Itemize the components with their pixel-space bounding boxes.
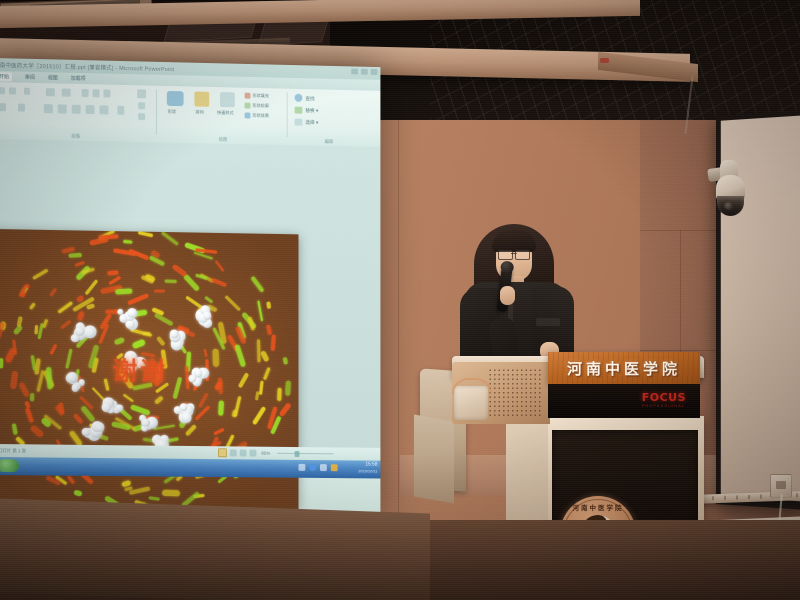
capsid-ribbon [99, 235, 119, 240]
podium-side-arc [452, 378, 492, 394]
ligand-sphere [127, 308, 136, 318]
window-controls[interactable] [351, 68, 377, 75]
capsid-ribbon [214, 428, 224, 435]
view-controls[interactable]: 65% [218, 448, 334, 458]
select-icon[interactable] [295, 119, 303, 126]
capsid-ribbon [25, 407, 33, 422]
floor-left [0, 498, 430, 600]
capsid-ribbon [77, 311, 85, 321]
select-label: 选择 ▾ [305, 119, 318, 126]
powerpoint-window: 河南中医药大学［201510］汇报.ppt [兼容模式] - Microsoft… [0, 58, 380, 523]
capsid-ribbon [33, 268, 49, 279]
align-left2-icon[interactable] [44, 104, 53, 113]
slide-canvas-area[interactable]: 谢谢 [0, 139, 380, 448]
wall-seam [398, 60, 399, 530]
capsid-ribbon [30, 393, 34, 401]
capsid-ribbon [257, 339, 260, 362]
usb-icon[interactable] [331, 464, 338, 471]
windows-taskbar[interactable]: 15:58 2015/10/11 [0, 457, 380, 478]
lens-left [498, 250, 513, 260]
capsid-ribbon [173, 377, 182, 399]
maximize-icon[interactable] [361, 69, 368, 75]
capsid-ribbon [267, 302, 272, 309]
tab-start[interactable]: 开始 [0, 72, 12, 81]
capsid-ribbon [149, 497, 160, 501]
zoom-slider-handle[interactable] [295, 451, 300, 457]
start-button[interactable] [0, 459, 19, 472]
capsid-ribbon [253, 407, 267, 425]
ligand-sphere [194, 369, 202, 377]
capsid-ribbon [75, 261, 85, 267]
capsid-ribbon [0, 358, 3, 368]
outlet-slots [776, 481, 786, 489]
capsid-ribbon [42, 319, 49, 329]
capsid-ribbon [155, 313, 174, 326]
ligand-sphere [74, 326, 84, 336]
capsid-ribbon [285, 381, 291, 396]
tab-view[interactable]: 视图 [48, 74, 58, 81]
capsid-ribbon [144, 332, 151, 335]
capsid-ribbon [132, 339, 146, 349]
font-shrink-icon[interactable] [18, 104, 25, 112]
capsid-ribbon [130, 404, 150, 415]
shape-fill-label: 形状填充 [252, 93, 268, 99]
line-spacing-icon[interactable] [46, 88, 55, 96]
ribbon-separator [287, 93, 288, 138]
ligand-sphere [66, 372, 77, 383]
capsid-ribbon [17, 316, 23, 327]
ribbon-group-paragraph[interactable]: 段落 [0, 83, 155, 141]
numbering-icon[interactable] [9, 87, 16, 94]
replace-label: 替换 ▾ [305, 107, 318, 114]
ptz-dome-camera-icon [708, 158, 752, 232]
capsid-ribbon [211, 278, 227, 287]
capsid-ribbon [259, 381, 263, 395]
system-tray[interactable] [299, 464, 338, 471]
capsid-ribbon [204, 296, 213, 304]
speaker-grille [488, 368, 542, 418]
capsid-ribbon [62, 246, 75, 253]
emblem-chinese-text: 河南中医学院 [560, 502, 636, 512]
ligand-sphere [102, 402, 112, 412]
capsid-ribbon [11, 423, 17, 435]
convert-smartart-icon[interactable] [138, 102, 145, 109]
capsid-ribbon [30, 424, 44, 437]
capsid-ribbon [65, 348, 72, 369]
ligand-sphere [84, 326, 97, 339]
fringe [492, 230, 536, 252]
capsid-ribbon [224, 295, 240, 311]
ligand-sphere [71, 384, 78, 391]
capsid-ribbon [73, 413, 83, 424]
font-grow-icon[interactable] [0, 103, 6, 111]
capsid-ribbon [260, 350, 270, 362]
podium-speaker-panel [452, 362, 550, 424]
capsid-ribbon [46, 366, 52, 389]
capsid-ribbon [263, 367, 270, 380]
text-direction-icon[interactable] [82, 89, 89, 97]
decrease-indent-icon[interactable] [24, 88, 30, 95]
capsid-ribbon [127, 293, 149, 306]
capsid-ribbon [49, 288, 56, 297]
ligand-sphere [203, 311, 211, 320]
capsid-ribbon [107, 271, 118, 275]
capsid-ribbon [115, 288, 132, 294]
capsid-ribbon [277, 388, 281, 401]
reading-view-button[interactable] [240, 449, 247, 456]
ligand-sphere [78, 379, 84, 385]
capsid-ribbon [34, 325, 37, 334]
jacket-pocket [536, 318, 560, 326]
capsid-ribbon [18, 383, 29, 398]
align-obj-icon[interactable] [138, 113, 145, 120]
capsid-ribbon [154, 395, 164, 404]
ceiling-marker [600, 58, 609, 63]
sound-icon[interactable] [309, 464, 316, 471]
chair-seat [414, 414, 454, 503]
normal-view-button[interactable] [218, 448, 227, 457]
taskbar-clock[interactable]: 15:58 2015/10/11 [358, 462, 377, 474]
capsid-ribbon [57, 301, 72, 313]
ribbon-group-editing[interactable]: 查找 替换 ▾ 选择 ▾ 编辑 [293, 90, 365, 146]
smartart-icon[interactable] [137, 89, 146, 98]
align-center-icon[interactable] [58, 104, 67, 113]
ribbon[interactable]: 段落 形状 排列 快速样式 形状填充 形状轮廓 形状效果 [0, 82, 380, 148]
capsid-ribbon [123, 240, 132, 244]
zoom-level: 65% [261, 451, 270, 456]
capsid-ribbon [60, 320, 71, 330]
capsid-ribbon [49, 343, 57, 354]
capsid-ribbon [85, 279, 99, 295]
columns2-icon[interactable] [117, 106, 124, 115]
sorter-view-button[interactable] [230, 449, 237, 456]
justify-icon[interactable] [86, 105, 95, 114]
slideshow-view-button[interactable] [250, 450, 257, 457]
shape-outline-icon[interactable] [245, 103, 251, 109]
ribbon-group-drawing[interactable]: 形状 排列 快速样式 形状填充 形状轮廓 形状效果 绘图 [161, 87, 285, 144]
capsid-ribbon [218, 400, 223, 415]
capsid-ribbon [108, 276, 121, 285]
capsid-ribbon [185, 424, 197, 436]
tab-review[interactable]: 审阅 [25, 74, 35, 81]
capsid-ribbon [235, 344, 247, 367]
shape-fill-icon[interactable] [245, 93, 251, 99]
quick-styles-label: 快速样式 [217, 110, 233, 116]
capsid-ribbon [218, 378, 223, 394]
podium-control-panel: FOCUS PROFESSIONAL [548, 384, 700, 418]
capsid-ribbon [0, 322, 5, 339]
main-projection-screen: 河南中医药大学［201510］汇报.ppt [兼容模式] - Microsoft… [0, 58, 380, 523]
ribbon-separator [156, 90, 157, 135]
capsid-ribbon [165, 279, 177, 283]
capsid-ribbon [103, 379, 108, 391]
capsid-ribbon [271, 335, 276, 351]
capsid-ribbon [257, 300, 263, 321]
lens-right [515, 250, 530, 260]
brand-sublabel: PROFESSIONAL [642, 403, 685, 408]
capsid-ribbon [162, 491, 180, 497]
hand-holding-mic [500, 286, 515, 305]
close-icon[interactable] [371, 69, 378, 75]
zoom-slider[interactable] [277, 453, 334, 455]
capsid-ribbon [283, 357, 288, 365]
capsid-ribbon [153, 289, 164, 292]
capsid-ribbon [12, 339, 17, 355]
capsid-ribbon [238, 372, 249, 388]
ligand-sphere [117, 309, 123, 315]
shape-effects-icon[interactable] [245, 112, 251, 118]
capsid-ribbon [172, 263, 187, 276]
slide-info: 幻灯片 第 1 张 [0, 448, 26, 454]
network-icon[interactable] [299, 464, 306, 471]
capsid-ribbon [10, 371, 18, 389]
screenshot-root: 河南中医药大学［201510］汇报.ppt [兼容模式] - Microsoft… [0, 0, 800, 600]
clock-date: 2015/10/11 [358, 468, 377, 473]
align-right-icon[interactable] [72, 105, 81, 114]
podium-name-plaque: 河南中医学院 [548, 352, 700, 384]
shape-outline-label: 形状轮廓 [252, 103, 268, 109]
capsid-ribbon [73, 490, 82, 497]
glasses-icon [498, 250, 530, 258]
bullets-icon[interactable] [0, 87, 5, 94]
capsid-ribbon [123, 393, 134, 402]
capsid-ribbon [67, 476, 74, 484]
capsid-ribbon [214, 260, 223, 271]
minimize-icon[interactable] [351, 68, 358, 74]
capsid-ribbon [266, 325, 272, 335]
security-icon[interactable] [320, 464, 327, 471]
capsid-ribbon [195, 405, 210, 420]
ligand-sphere [170, 329, 179, 338]
capsid-ribbon [129, 486, 150, 495]
align-text-icon[interactable] [93, 89, 100, 97]
distribute-icon[interactable] [100, 105, 109, 114]
arrange-label: 排列 [195, 109, 203, 115]
capsid-ribbon [114, 338, 125, 346]
replace-icon[interactable] [295, 107, 303, 114]
ligand-sphere [142, 419, 150, 427]
find-icon[interactable] [295, 94, 303, 102]
quick-styles-icon[interactable] [220, 92, 235, 107]
capsid-ribbon [29, 302, 36, 309]
capsid-ribbon [196, 274, 208, 280]
capsid-ribbon [157, 336, 166, 346]
shapes-icon[interactable] [167, 91, 184, 106]
capsid-ribbon [251, 276, 265, 293]
camera-lens [724, 202, 734, 210]
capsid-ribbon [213, 349, 219, 367]
capsid-ribbon [255, 391, 260, 401]
arrange-icon[interactable] [194, 92, 209, 107]
align-left-icon[interactable] [62, 89, 71, 97]
find-label: 查找 [305, 95, 314, 102]
columns-icon[interactable] [103, 89, 110, 97]
capsid-ribbon [203, 349, 207, 357]
shapes-label: 形状 [168, 109, 176, 115]
slide-closing-text: 谢谢 [112, 352, 167, 389]
capsid-ribbon [69, 253, 82, 257]
ligand-sphere [181, 412, 192, 423]
capsid-ribbon [54, 405, 65, 417]
shape-effects-label: 形状效果 [252, 113, 268, 119]
venue-name: 河南中医学院 [548, 352, 700, 384]
tab-addins[interactable]: 加载项 [71, 75, 86, 82]
